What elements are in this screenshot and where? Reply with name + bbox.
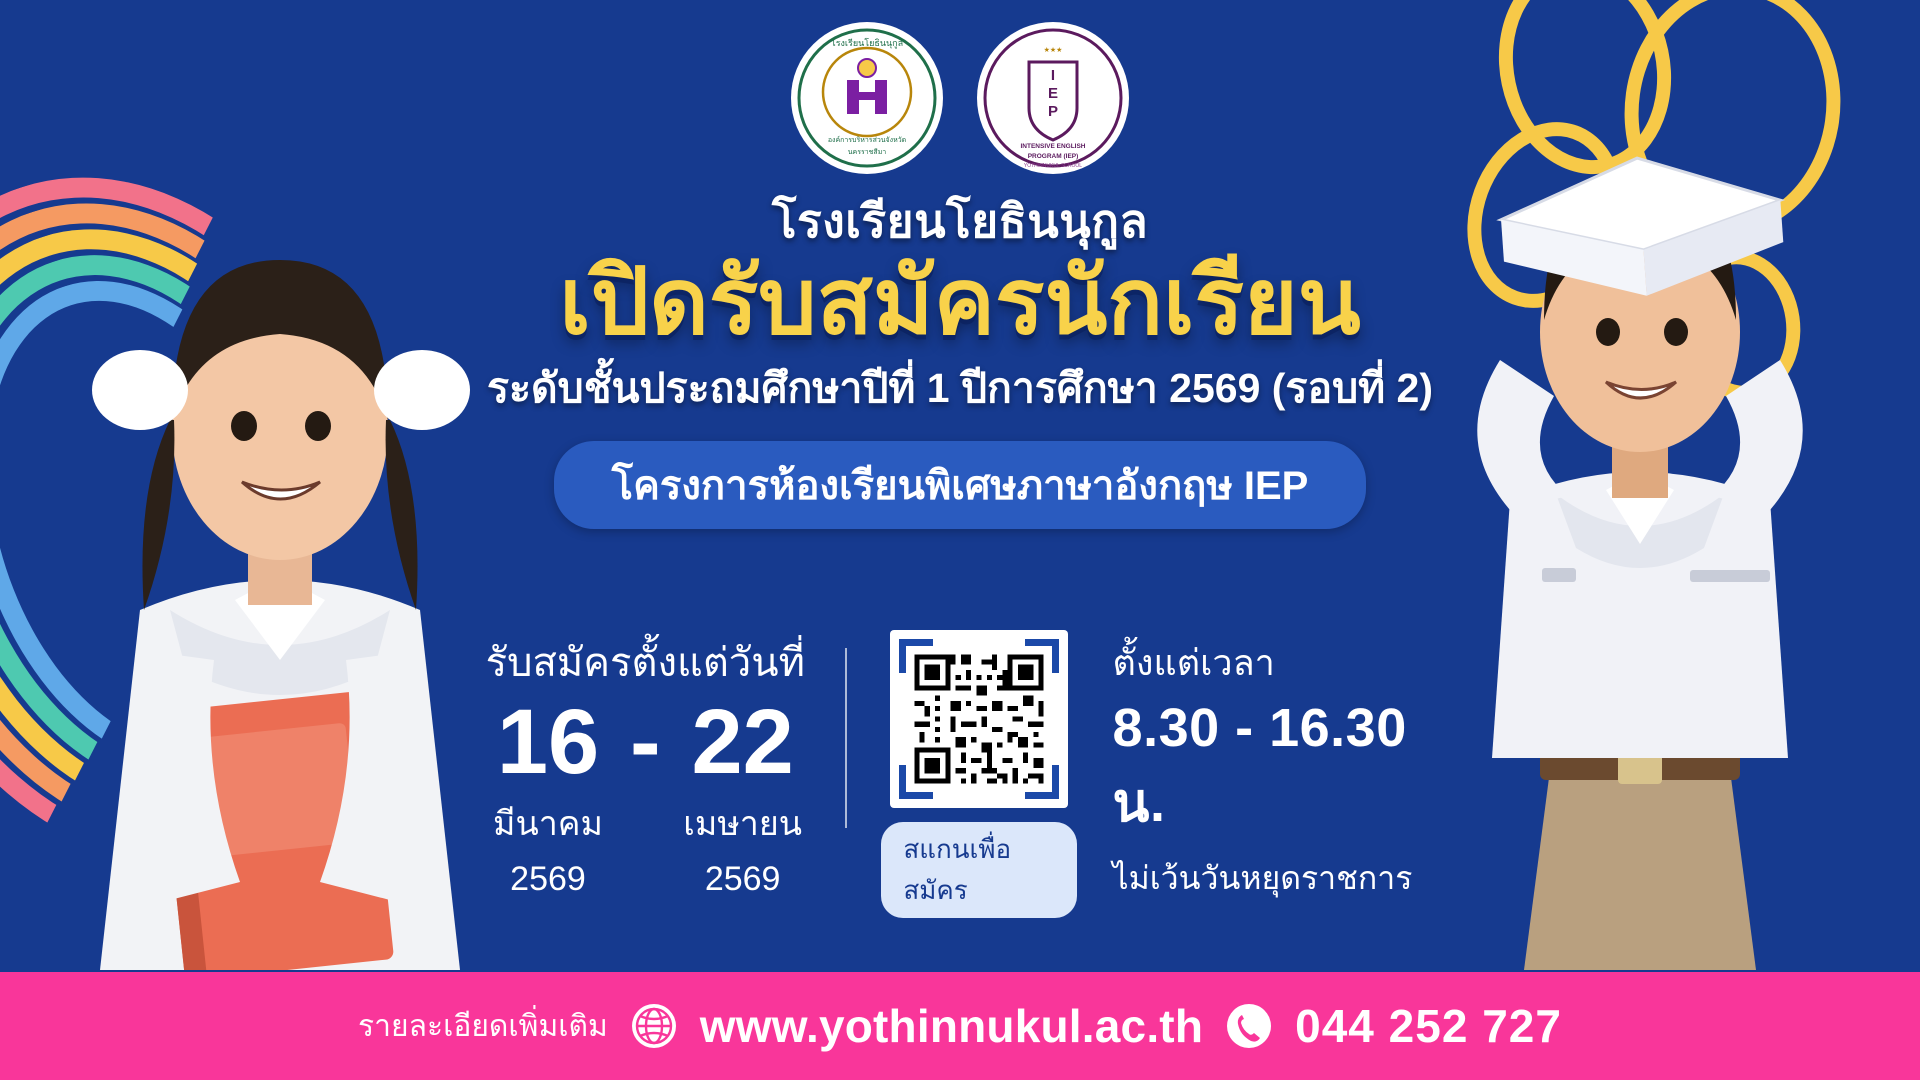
program-badge: โครงการห้องเรียนพิเศษภาษาอังกฤษ IEP (554, 441, 1367, 529)
logo-row: โรงเรียนโยธินนุกูล องค์การบริหารส่วนจังห… (791, 22, 1129, 174)
qr-code-icon[interactable] (890, 630, 1068, 808)
date-end: 22 เมษายน 2569 (675, 696, 811, 899)
start-month: มีนาคม (493, 796, 603, 850)
phone-number[interactable]: 044 252 727 (1295, 999, 1562, 1053)
footer-label: รายละเอียดเพิ่มเติม (358, 1003, 608, 1050)
svg-text:นครราชสีมา: นครราชสีมา (848, 148, 887, 156)
end-month: เมษายน (683, 796, 802, 850)
yothinnukul-school-seal-icon: โรงเรียนโยธินนุกูล องค์การบริหารส่วนจังห… (791, 22, 943, 174)
svg-text:E: E (1048, 85, 1058, 102)
time-note: ไม่เว้นวันหยุดราชการ (1113, 853, 1440, 904)
school-name: โรงเรียนโยธินนุกูล (0, 196, 1920, 247)
headline-block: โรงเรียนโยธินนุกูล เปิดรับสมัครนักเรียน … (0, 196, 1920, 529)
date-separator: - (630, 696, 661, 788)
end-day: 22 (691, 696, 793, 788)
iep-program-seal-icon: I E P ★★★ INTENSIVE ENGLISH PROGRAM (IEP… (977, 22, 1129, 174)
date-range: 16 มีนาคม 2569 - 22 เมษายน 2569 (480, 696, 811, 899)
page-title: เปิดรับสมัครนักเรียน (0, 251, 1920, 354)
start-day: 16 (497, 696, 599, 788)
poster-root: โรงเรียนโยธินนุกูล องค์การบริหารส่วนจังห… (0, 0, 1920, 1080)
svg-text:โรงเรียนโยธินนุกูล: โรงเรียนโยธินนุกูล (831, 38, 903, 49)
vertical-divider (845, 648, 848, 828)
page-subtitle: ระดับชั้นประถมศึกษาปีที่ 1 ปีการศึกษา 25… (0, 356, 1920, 421)
start-year: 2569 (510, 860, 586, 899)
qr-block: สแกนเพื่อสมัคร (881, 630, 1076, 918)
svg-text:องค์การบริหารส่วนจังหวัด: องค์การบริหารส่วนจังหวัด (828, 136, 906, 144)
info-row: รับสมัครตั้งแต่วันที่ 16 มีนาคม 2569 - 2… (480, 630, 1440, 918)
scan-to-apply-badge[interactable]: สแกนเพื่อสมัคร (881, 822, 1076, 918)
time-block: ตั้งแต่เวลา 8.30 - 16.30 น. ไม่เว้นวันหย… (1113, 630, 1440, 904)
svg-text:YOTHINNUKUL SCHOOL: YOTHINNUKUL SCHOOL (1024, 163, 1082, 169)
end-year: 2569 (705, 860, 781, 899)
qr-corner-bottom-left (899, 765, 933, 799)
website-link[interactable]: www.yothinnukul.ac.th (700, 999, 1203, 1053)
svg-text:P: P (1048, 103, 1058, 120)
svg-text:PROGRAM (IEP): PROGRAM (IEP) (1028, 153, 1079, 160)
globe-icon (630, 1002, 678, 1050)
time-range: 8.30 - 16.30 น. (1113, 697, 1440, 845)
qr-corner-top-right (1025, 639, 1059, 673)
svg-text:★★★: ★★★ (1044, 46, 1063, 54)
application-date-block: รับสมัครตั้งแต่วันที่ 16 มีนาคม 2569 - 2… (480, 630, 837, 899)
qr-corner-top-left (899, 639, 933, 673)
svg-text:INTENSIVE ENGLISH: INTENSIVE ENGLISH (1020, 143, 1085, 150)
footer-bar: รายละเอียดเพิ่มเติม www.yothinnukul.ac.t… (0, 972, 1920, 1080)
qr-corner-bottom-right (1025, 765, 1059, 799)
time-lead-label: ตั้งแต่เวลา (1113, 634, 1440, 691)
phone-icon (1225, 1002, 1273, 1050)
svg-text:I: I (1051, 67, 1055, 84)
date-lead-label: รับสมัครตั้งแต่วันที่ (480, 630, 811, 694)
date-start: 16 มีนาคม 2569 (480, 696, 616, 899)
